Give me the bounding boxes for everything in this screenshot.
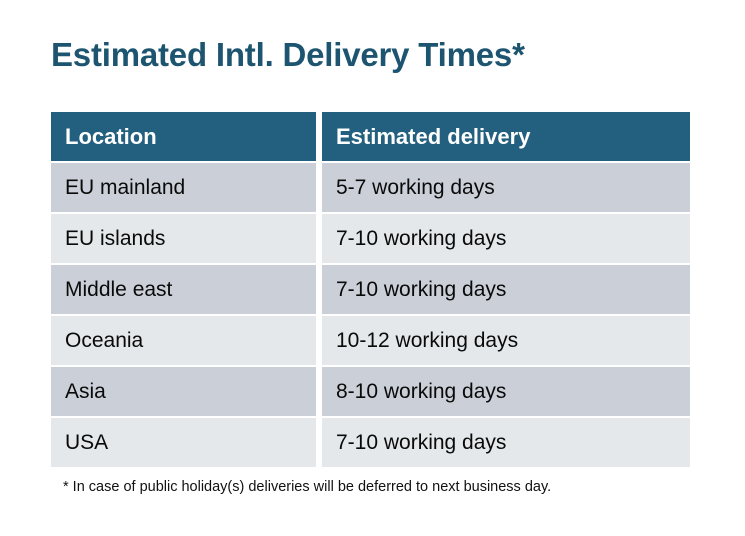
table-row: USA 7-10 working days [51, 418, 690, 467]
table-row: EU mainland 5-7 working days [51, 163, 690, 212]
table-row: Oceania 10-12 working days [51, 316, 690, 365]
cell-estimated-delivery: 7-10 working days [322, 265, 690, 314]
cell-location: EU islands [51, 214, 316, 263]
cell-estimated-delivery: 10-12 working days [322, 316, 690, 365]
table-row: Middle east 7-10 working days [51, 265, 690, 314]
cell-estimated-delivery: 5-7 working days [322, 163, 690, 212]
column-header-estimated-delivery: Estimated delivery [322, 112, 690, 161]
column-header-location: Location [51, 112, 316, 161]
table-header-row: Location Estimated delivery [51, 112, 690, 161]
cell-estimated-delivery: 7-10 working days [322, 214, 690, 263]
estimated-delivery-times-table: Location Estimated delivery EU mainland … [51, 112, 690, 469]
cell-location: Asia [51, 367, 316, 416]
cell-estimated-delivery: 8-10 working days [322, 367, 690, 416]
table-row: EU islands 7-10 working days [51, 214, 690, 263]
footnote: * In case of public holiday(s) deliverie… [63, 479, 551, 495]
page-title: Estimated Intl. Delivery Times* [51, 36, 525, 74]
cell-location: Oceania [51, 316, 316, 365]
cell-estimated-delivery: 7-10 working days [322, 418, 690, 467]
cell-location: Middle east [51, 265, 316, 314]
delivery-times-document: Estimated Intl. Delivery Times* Location… [0, 0, 745, 536]
cell-location: USA [51, 418, 316, 467]
table-row: Asia 8-10 working days [51, 367, 690, 416]
cell-location: EU mainland [51, 163, 316, 212]
